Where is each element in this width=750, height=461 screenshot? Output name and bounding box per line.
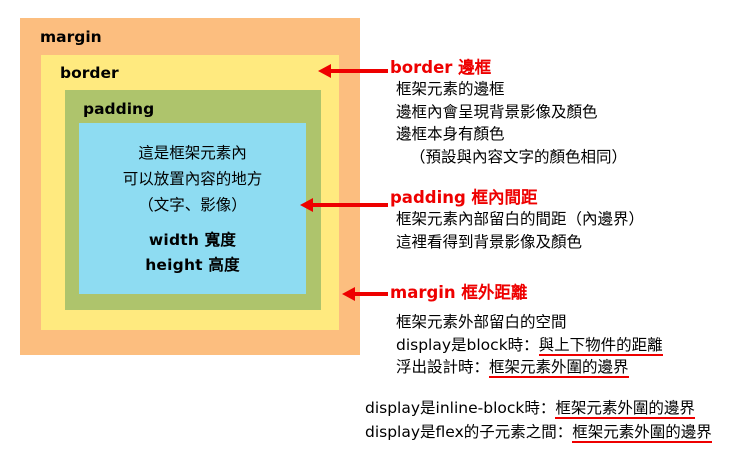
border-label: border (60, 66, 119, 82)
margin-label: margin (40, 30, 102, 46)
padding-annotation-block: padding 框內間距 框架元素內部留白的間距（內邊界） 這裡看得到背景影像及… (390, 188, 746, 253)
box-model-diagram: margin border padding 這是框架元素內 可以放置內容的地方 … (20, 18, 360, 355)
margin-annotation-line-1: 框架元素外部留白的空間 (396, 311, 746, 334)
padding-annotation-heading: padding 框內間距 (390, 188, 746, 208)
margin-annotation-lines: 框架元素外部留白的空間 display是block時：與上下物件的距離 浮出設計… (390, 303, 746, 379)
width-label: width 寬度 (149, 231, 236, 249)
border-annotation-lines: 框架元素的邊框 邊框內會呈現背景影像及顏色 邊框本身有顏色 （預設與內容文字的顏… (390, 78, 746, 168)
content-line-1: 這是框架元素內 (138, 144, 247, 162)
extra-line-1-prefix: display是inline-block時： (365, 399, 555, 417)
margin-annotation-line-3-prefix: 浮出設計時： (396, 358, 489, 376)
extra-display-notes: display是inline-block時：框架元素外圍的邊界 display是… (365, 396, 750, 444)
border-annotation-line-4: （預設與內容文字的顏色相同） (396, 146, 746, 169)
extra-line-2-prefix: display是flex的子元素之間： (365, 423, 572, 441)
margin-annotation-heading: margin 框外距離 (390, 283, 746, 303)
padding-annotation-line-2: 這裡看得到背景影像及顏色 (396, 231, 746, 254)
content-dimensions: width 寬度 height 高度 (79, 228, 306, 278)
margin-annotation-block: margin 框外距離 框架元素外部留白的空間 display是block時：與… (390, 283, 746, 379)
border-annotation-line-2: 邊框內會呈現背景影像及顏色 (396, 101, 746, 124)
content-line-3: （文字、影像） (138, 196, 247, 214)
extra-line-2: display是flex的子元素之間：框架元素外圍的邊界 (365, 420, 750, 444)
extra-line-1-underlined: 框架元素外圍的邊界 (555, 399, 695, 419)
margin-annotation-line-3-underlined: 框架元素外圍的邊界 (489, 358, 629, 378)
content-line-2: 可以放置內容的地方 (123, 170, 263, 188)
padding-label: padding (83, 102, 154, 118)
margin-annotation-line-2-underlined: 與上下物件的距離 (539, 336, 663, 356)
padding-annotation-lines: 框架元素內部留白的間距（內邊界） 這裡看得到背景影像及顏色 (390, 208, 746, 253)
margin-annotation-line-3: 浮出設計時：框架元素外圍的邊界 (396, 356, 746, 379)
extra-line-1: display是inline-block時：框架元素外圍的邊界 (365, 396, 750, 420)
extra-line-2-underlined: 框架元素外圍的邊界 (572, 423, 712, 443)
margin-annotation-line-2: display是block時：與上下物件的距離 (396, 334, 746, 357)
border-annotation-line-1: 框架元素的邊框 (396, 78, 746, 101)
margin-annotation-line-2-prefix: display是block時： (396, 336, 539, 354)
height-label: height 高度 (145, 256, 240, 274)
border-annotation-heading: border 邊框 (390, 58, 746, 78)
padding-annotation-line-1: 框架元素內部留白的間距（內邊界） (396, 208, 746, 231)
border-annotation-line-3: 邊框本身有顏色 (396, 123, 746, 146)
border-annotation-block: border 邊框 框架元素的邊框 邊框內會呈現背景影像及顏色 邊框本身有顏色 … (390, 58, 746, 168)
content-text-block: 這是框架元素內 可以放置內容的地方 （文字、影像） width 寬度 heigh… (79, 140, 306, 278)
